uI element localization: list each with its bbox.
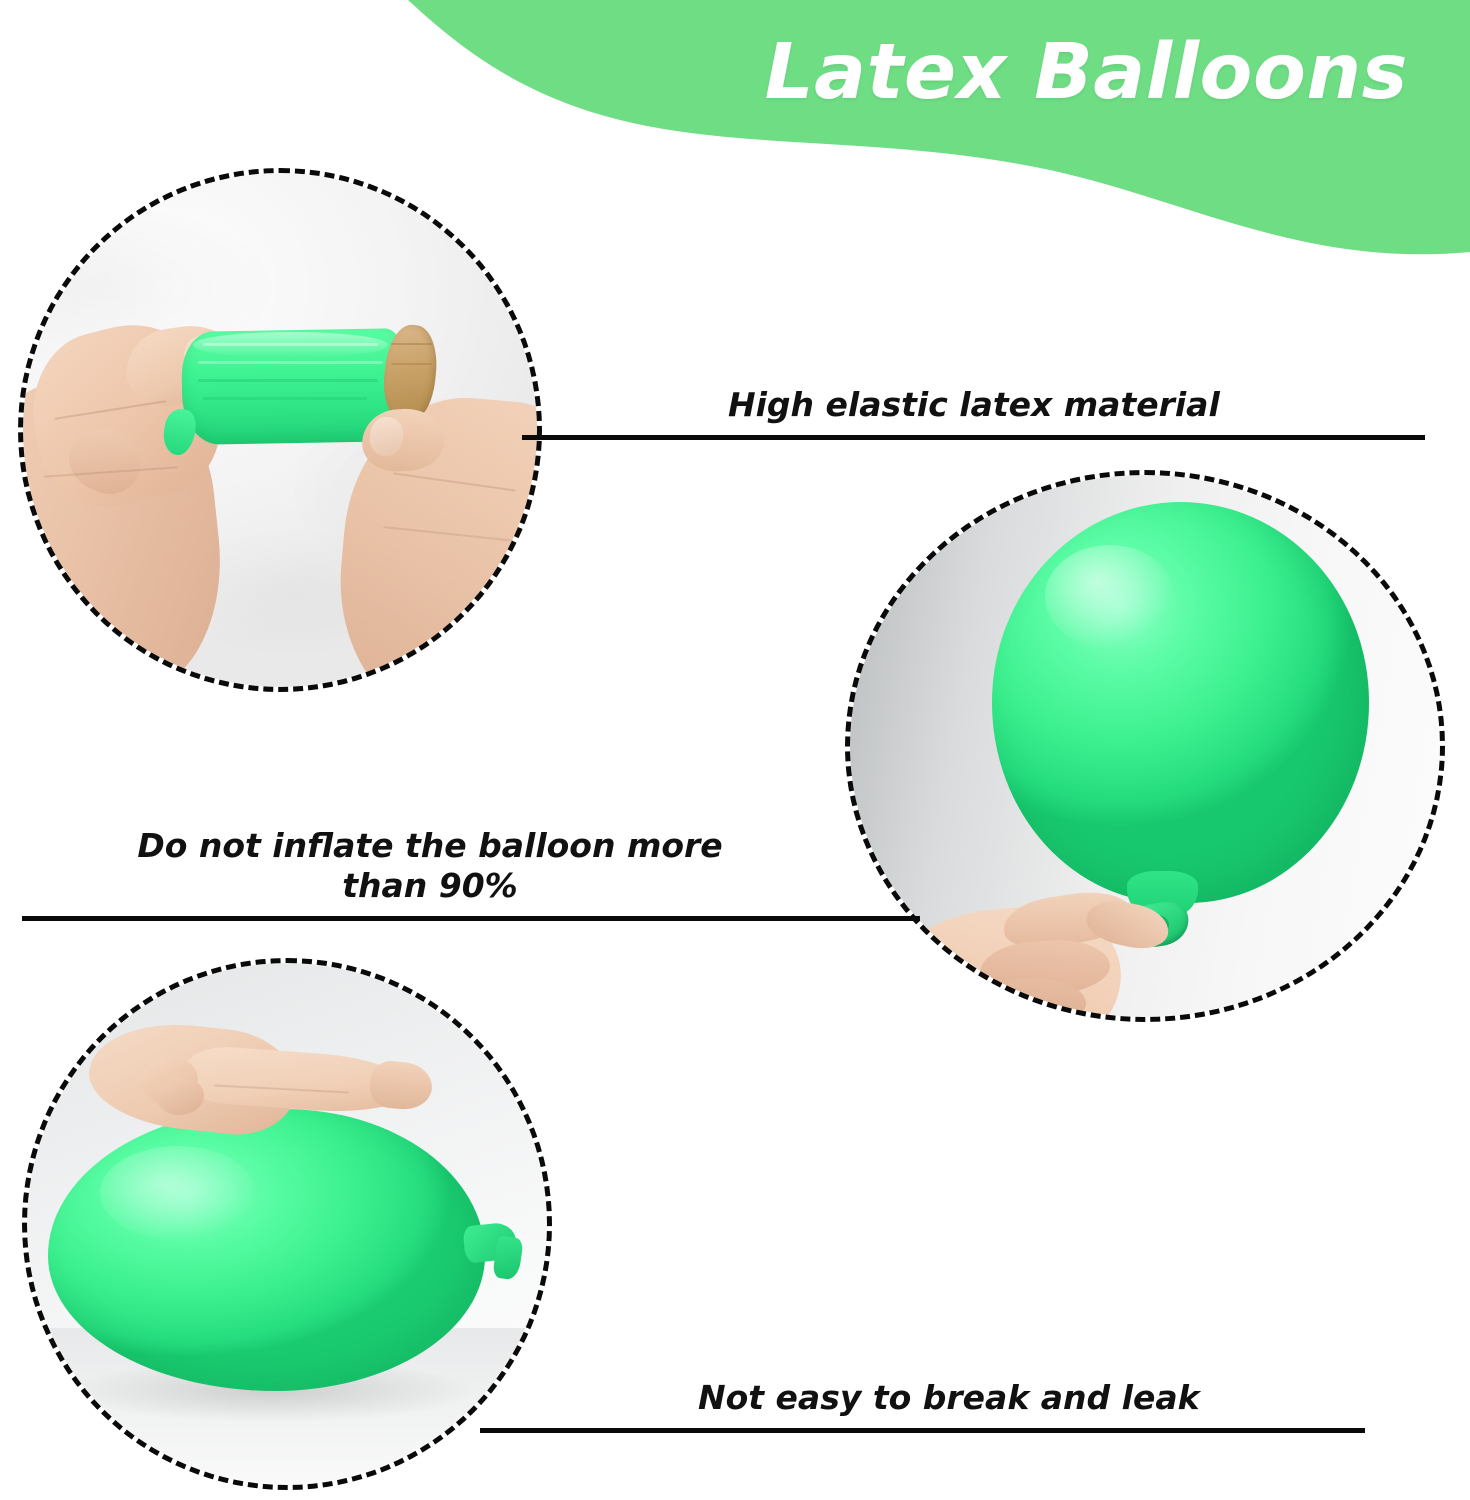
label-high-elastic: High elastic latex material xyxy=(728,385,1428,425)
leader-line-no-break-leak xyxy=(480,1428,1365,1433)
hand-holding-inflated-balloon-photo xyxy=(845,470,1445,1022)
label-inflate-limit: Do not inflate the balloon more than 90% xyxy=(110,826,750,907)
leader-line-high-elastic xyxy=(522,435,1425,440)
dashed-circle-border-1 xyxy=(18,168,542,692)
hands-stretching-balloon-photo xyxy=(18,168,542,692)
latex-balloons-infographic: Latex Balloons xyxy=(0,0,1470,1500)
hand-pressing-balloon-photo xyxy=(22,958,552,1490)
dashed-circle-border-2 xyxy=(845,470,1445,1022)
dashed-circle-border-3 xyxy=(22,958,552,1490)
page-title: Latex Balloons xyxy=(765,28,1408,117)
leader-line-inflate-limit xyxy=(22,916,920,921)
label-no-break-leak: Not easy to break and leak xyxy=(698,1378,1398,1418)
